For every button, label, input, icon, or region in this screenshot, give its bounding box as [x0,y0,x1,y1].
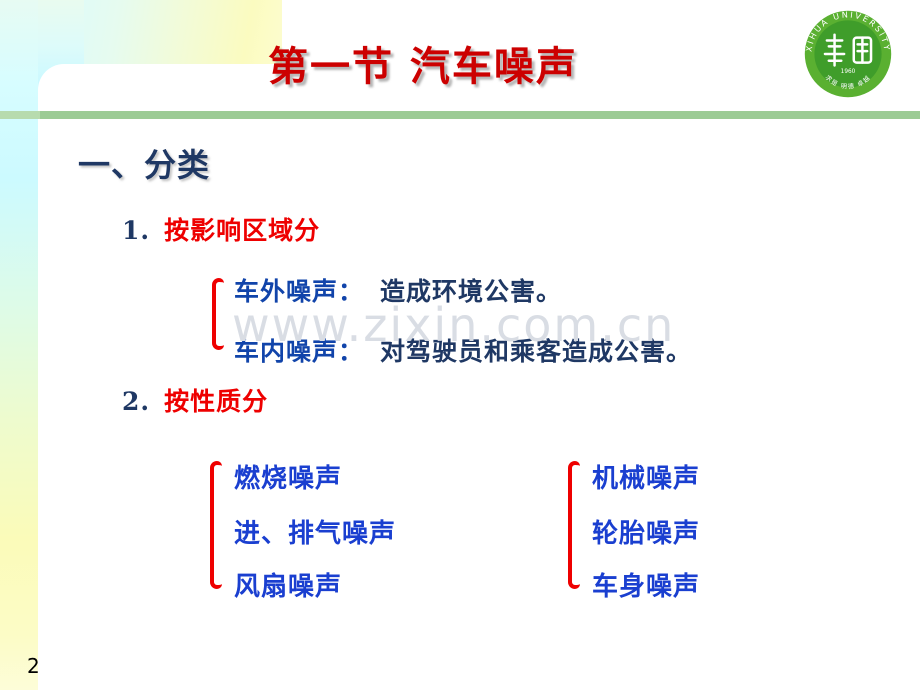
source-item-body: 车身噪声 [592,566,700,603]
impact-row-interior-label: 车内噪声： [234,337,364,366]
list-item-1-label: 按影响区域分 [164,216,320,245]
xihua-university-logo-icon: XIHUA UNIVERSITY 求是 明德 卓越 1960 [800,6,896,102]
source-item-tire: 轮胎噪声 [592,513,700,550]
red-bracket-source-left [210,461,222,589]
section-heading: 一、分类 [78,140,210,186]
list-item-2: 2.按性质分 [122,382,268,418]
impact-row-exterior: 车外噪声：造成环境公害。 [234,272,562,308]
list-item-1: 1.按影响区域分 [122,211,320,247]
svg-text:1960: 1960 [841,69,856,75]
red-bracket-impact [212,278,224,350]
left-gradient-strip [0,0,38,690]
list-item-2-label: 按性质分 [164,387,268,416]
impact-row-interior-desc: 对驾驶员和乘客造成公害。 [380,337,692,366]
list-item-2-number: 2. [122,387,150,416]
slide-title: 第一节 汽车噪声 [268,34,578,92]
page-number: 2 [27,654,40,678]
green-divider-cap [0,111,40,119]
source-item-fan: 风扇噪声 [234,566,342,603]
source-item-mechanical: 机械噪声 [592,458,700,495]
source-item-combustion: 燃烧噪声 [234,458,342,495]
green-divider-rule [0,111,920,119]
red-bracket-source-right [568,461,580,589]
source-item-intake-exhaust: 进、排气噪声 [234,513,396,550]
impact-row-exterior-desc: 造成环境公害。 [380,277,562,306]
impact-row-interior: 车内噪声：对驾驶员和乘客造成公害。 [234,332,692,368]
list-item-1-number: 1. [122,216,150,245]
presentation-slide: XIHUA UNIVERSITY 求是 明德 卓越 1960 第一节 汽车噪声 … [0,0,920,690]
impact-row-exterior-label: 车外噪声： [234,277,364,306]
